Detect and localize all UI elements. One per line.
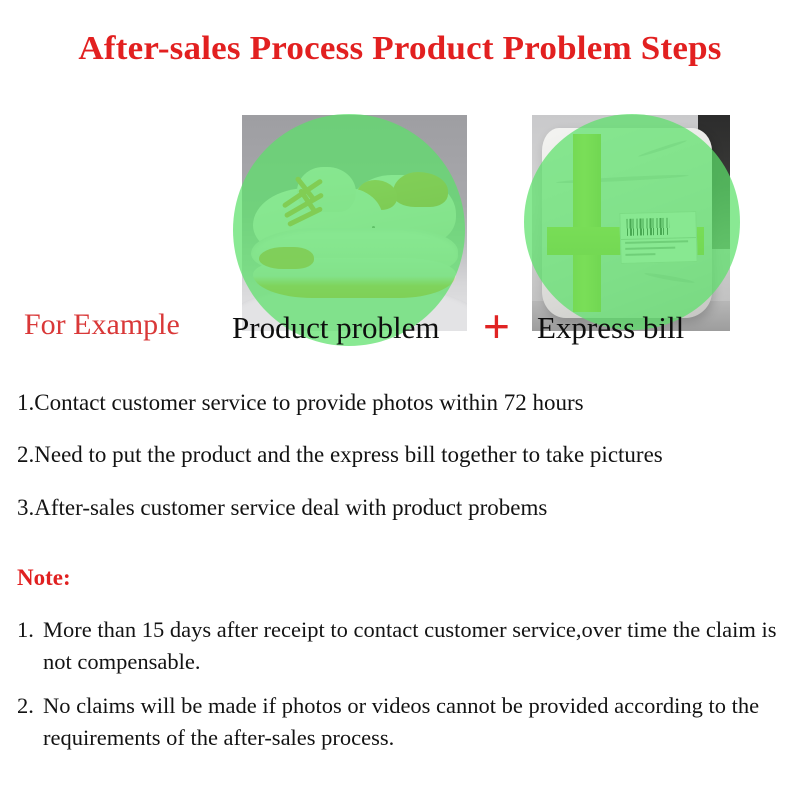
shipping-label	[620, 211, 698, 264]
bag-crease	[644, 272, 695, 285]
note-item: 2. No claims will be made if photos or v…	[17, 690, 792, 754]
note-item-text: More than 15 days after receipt to conta…	[43, 617, 776, 674]
sneaker-collar-rear	[393, 172, 447, 207]
note-item-number: 2.	[17, 690, 34, 722]
step-item: 3.After-sales customer service deal with…	[17, 495, 787, 521]
note-list: 1. More than 15 days after receipt to co…	[17, 614, 792, 766]
barcode-icon	[627, 217, 671, 235]
example-row: For Example	[0, 105, 800, 350]
label-text-line	[626, 252, 656, 255]
after-sales-process-infographic: { "page": { "title": "After-sales Proces…	[0, 0, 800, 800]
express-bill-photo	[532, 115, 730, 331]
packing-tape-vertical	[573, 134, 602, 313]
note-item-text: No claims will be made if photos or vide…	[43, 693, 759, 750]
step-item: 2.Need to put the product and the expres…	[17, 442, 787, 468]
bag-crease	[638, 139, 688, 158]
product-problem-caption: Product problem	[232, 312, 440, 343]
label-divider	[621, 236, 696, 239]
note-item-number: 1.	[17, 614, 34, 646]
product-problem-photo	[242, 115, 467, 331]
step-item: 1.Contact customer service to provide ph…	[17, 390, 787, 416]
label-text-line	[626, 246, 675, 249]
page-title: After-sales Process Product Problem Step…	[0, 30, 800, 68]
sneaker-toe-accent	[259, 247, 313, 268]
sneaker-photo-inner	[242, 115, 467, 331]
note-item: 1. More than 15 days after receipt to co…	[17, 614, 792, 678]
steps-list: 1.Contact customer service to provide ph…	[17, 390, 787, 547]
plus-icon: +	[483, 303, 510, 349]
label-text-line	[626, 239, 689, 243]
sneaker-illustration	[251, 167, 460, 301]
note-heading: Note:	[17, 565, 71, 591]
parcel-photo-inner	[532, 115, 730, 331]
parcel-bag	[542, 128, 712, 318]
express-bill-caption: Express bill	[537, 312, 684, 343]
for-example-label: For Example	[24, 308, 180, 342]
